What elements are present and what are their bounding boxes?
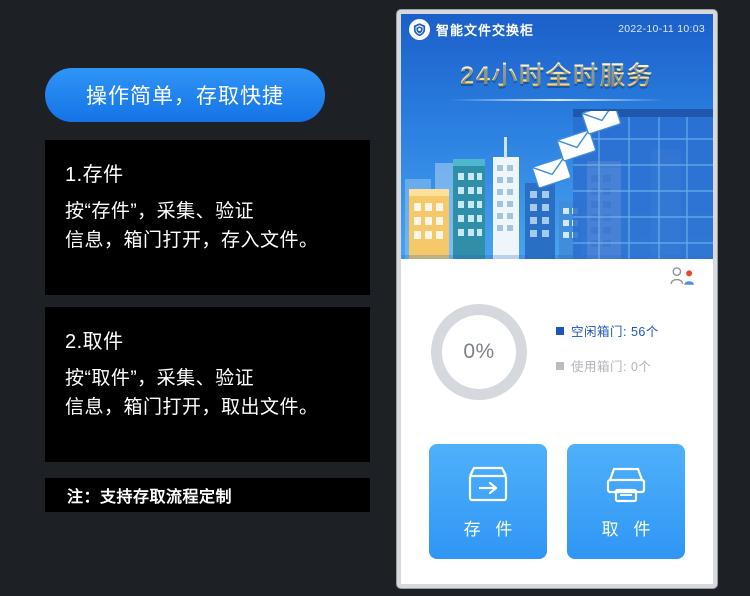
action-button-row: 存 件 取 件 [401, 444, 713, 559]
step-card-retrieve-line1: 按“取件”，采集、验证 [65, 364, 350, 393]
kiosk-device-frame: 智能文件交换柜 2022-10-11 10:03 24小时全时服务 [397, 10, 717, 588]
step-card-deposit-title: 1.存件 [65, 158, 350, 187]
banner-area: 智能文件交换柜 2022-10-11 10:03 24小时全时服务 [401, 14, 713, 259]
screen-bottom-bar [401, 574, 713, 584]
retrieve-button-label: 取 件 [597, 515, 656, 540]
legend-swatch-used [556, 362, 564, 370]
step-card-retrieve-line2: 信息，箱门打开，取出文件。 [65, 393, 350, 422]
step-card-deposit-line2: 信息，箱门打开，存入文件。 [65, 226, 350, 255]
legend-item-used: 使用箱门: 0个 [556, 356, 659, 375]
deposit-box-icon [465, 464, 511, 507]
deposit-button[interactable]: 存 件 [429, 444, 547, 559]
banner-headline-underline [450, 99, 665, 101]
note-bar-label: 注：支持存取流程定制 [67, 483, 232, 507]
legend-label-free: 空闲箱门: 56个 [571, 321, 659, 340]
usage-donut-percent: 0% [442, 315, 516, 389]
stats-panel: 0% 空闲箱门: 56个 使用箱门: 0个 [401, 259, 713, 444]
user-status-icon[interactable] [669, 265, 697, 287]
usage-donut-chart: 0% [431, 304, 527, 400]
kiosk-screen: 智能文件交换柜 2022-10-11 10:03 24小时全时服务 [401, 14, 713, 584]
deposit-button-label: 存 件 [459, 515, 518, 540]
step-card-deposit-line1: 按“存件”，采集、验证 [65, 197, 350, 226]
shield-logo-icon [409, 19, 430, 40]
left-content-column: 操作简单，存取快捷 1.存件 按“存件”，采集、验证 信息，箱门打开，存入文件。… [0, 0, 390, 596]
step-card-retrieve-title: 2.取件 [65, 325, 350, 354]
status-bar: 智能文件交换柜 2022-10-11 10:03 [401, 14, 713, 44]
legend-label-used: 使用箱门: 0个 [571, 356, 651, 375]
step-card-deposit: 1.存件 按“存件”，采集、验证 信息，箱门打开，存入文件。 [45, 140, 370, 295]
step-card-retrieve: 2.取件 按“取件”，采集、验证 信息，箱门打开，取出文件。 [45, 307, 370, 462]
usage-donut-ring: 0% [431, 304, 527, 400]
banner-headline-wrap: 24小时全时服务 [401, 56, 713, 101]
legend-item-free: 空闲箱门: 56个 [556, 321, 659, 340]
status-datetime: 2022-10-11 10:03 [618, 23, 705, 35]
headline-pill-label: 操作简单，存取快捷 [86, 80, 284, 110]
banner-headline: 24小时全时服务 [460, 56, 654, 92]
usage-legend: 空闲箱门: 56个 使用箱门: 0个 [556, 321, 659, 391]
retrieve-box-icon [603, 464, 649, 507]
note-bar: 注：支持存取流程定制 [45, 478, 370, 512]
legend-swatch-free [556, 327, 564, 335]
headline-pill: 操作简单，存取快捷 [45, 68, 325, 122]
app-title: 智能文件交换柜 [436, 20, 534, 39]
flying-envelopes-icon [523, 111, 643, 201]
retrieve-button[interactable]: 取 件 [567, 444, 685, 559]
